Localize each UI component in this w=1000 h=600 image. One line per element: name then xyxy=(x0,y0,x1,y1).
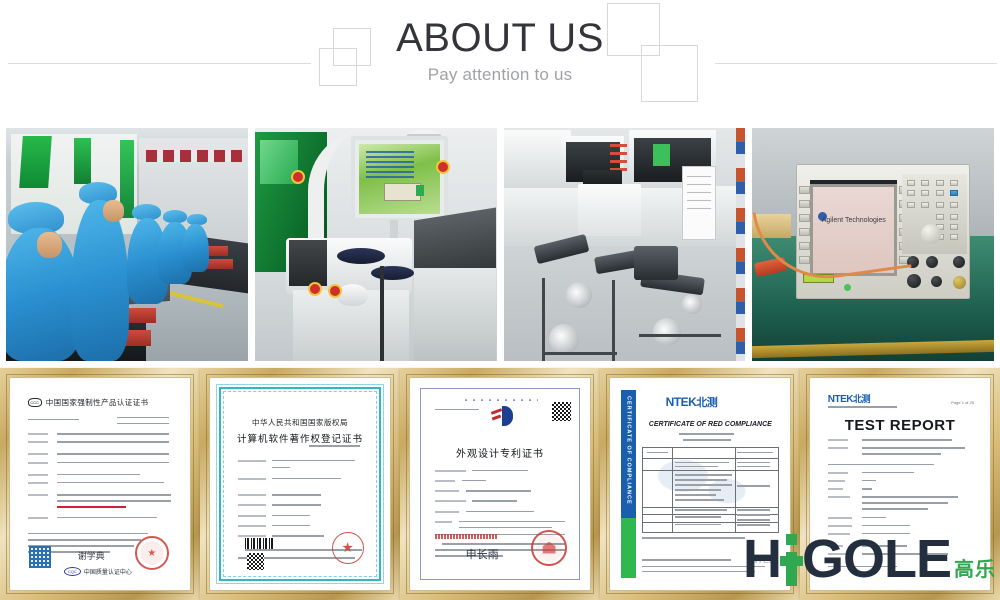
cqc-badge-icon: CQC xyxy=(64,567,81,576)
certificate-title: 外观设计专利证书 xyxy=(414,445,586,460)
header-text-block: ABOUT US Pay attention to us xyxy=(0,14,1000,88)
certificate-frame-software-copyright[interactable]: 中华人民共和国国家版权局 计算机软件著作权登记证书 xyxy=(200,368,400,600)
report-title: TEST REPORT xyxy=(814,417,986,434)
certificate-title: 中国国家强制性产品认证证书 xyxy=(46,397,149,408)
ntek-logo: NTEK北测 xyxy=(828,392,870,405)
certificate-issuer-line: 中华人民共和国国家版权局 xyxy=(214,417,386,428)
logo-letters-gole: GOLE xyxy=(802,532,951,586)
compliance-sidebar-label: CERTIFICATE OF COMPLIANCE xyxy=(621,390,636,578)
certificate-frame-ccc[interactable]: CCC 中国国家强制性产品认证证书 xyxy=(0,368,200,600)
ntek-brand-cn: 北测 xyxy=(696,397,717,409)
factory-photo-gallery: Agilent Technologies xyxy=(6,128,994,361)
photo-pick-and-place-machines[interactable] xyxy=(504,128,746,361)
certificate-title: 计算机软件著作权登记证书 xyxy=(214,431,386,445)
red-star-seal-icon xyxy=(332,532,364,564)
ntek-brand-cn: 北测 xyxy=(853,394,870,404)
certificate-signature: 谢学典 xyxy=(78,549,105,562)
photo-agilent-test-equipment[interactable]: Agilent Technologies xyxy=(752,128,994,361)
qr-code-icon xyxy=(552,402,571,421)
issuer-line: CQC 中国质量认证中心 xyxy=(64,567,132,576)
qr-code-icon xyxy=(29,546,51,568)
logo-letter-h: H xyxy=(743,532,780,586)
barcode-icon xyxy=(245,538,275,549)
ntek-brand: NTEK xyxy=(666,395,697,409)
ip-logo-icon xyxy=(491,406,513,426)
photo-smt-inspection-machine[interactable] xyxy=(255,128,497,361)
qr-code-icon xyxy=(247,553,264,570)
issuer-name: 中国质量认证中心 xyxy=(84,567,132,576)
certificate-signature: 申长雨 xyxy=(466,546,499,562)
certificate-title: CERTIFICATE OF RED COMPLIANCE xyxy=(642,421,780,428)
logo-i-mark-icon xyxy=(780,532,802,586)
red-seal-icon xyxy=(531,530,567,566)
security-strip-icon xyxy=(435,534,497,539)
standards-table xyxy=(642,447,780,533)
page-header: ABOUT US Pay attention to us xyxy=(0,0,1000,118)
logo-chinese-name: 高乐 xyxy=(954,560,996,580)
photo-assembly-line[interactable] xyxy=(6,128,248,361)
page-label: Page 1 of 25 xyxy=(951,400,974,405)
higole-wordmark: H GOLE xyxy=(743,532,951,586)
page-subtitle: Pay attention to us xyxy=(0,62,1000,88)
ntek-logo: NTEK北测 xyxy=(666,394,718,410)
about-us-page: ABOUT US Pay attention to us xyxy=(0,0,1000,600)
ccc-badge-icon: CCC xyxy=(28,398,42,407)
red-seal-icon xyxy=(135,536,169,570)
ntek-brand: NTEK xyxy=(828,394,853,405)
higole-brand-logo: H GOLE 高乐 xyxy=(743,532,996,586)
certificate-frame-design-patent[interactable]: 外观设计专利证书 申长雨 xyxy=(400,368,600,600)
page-title: ABOUT US xyxy=(0,14,1000,62)
